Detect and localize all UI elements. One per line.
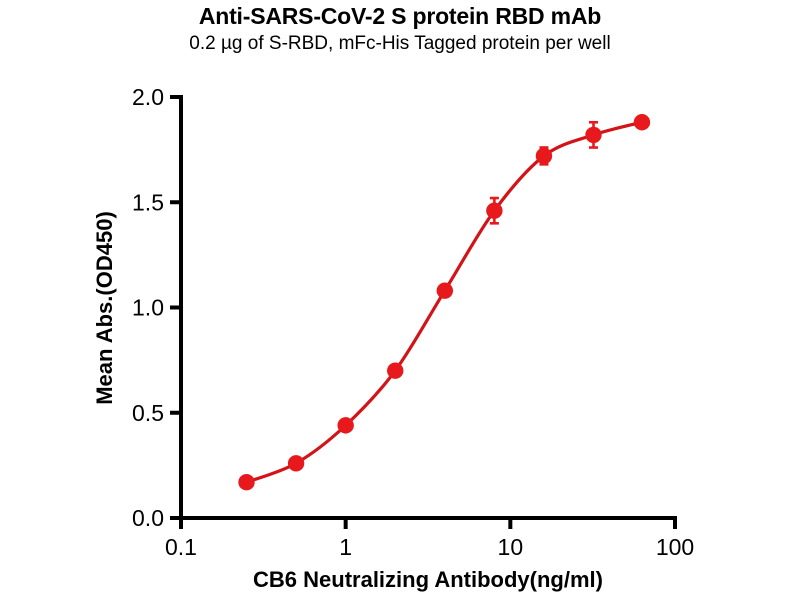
data-point: [486, 202, 502, 218]
y-tick-label: 1.5: [132, 189, 164, 215]
data-point: [288, 455, 304, 471]
y-tick-label: 0.0: [132, 505, 164, 531]
x-axis-title: CB6 Neutralizing Antibody(ng/ml): [253, 567, 603, 592]
chart-plot-area: 0.00.51.01.52.0 0.1110100 CB6 Neutralizi…: [0, 0, 800, 600]
figure-canvas: Anti-SARS-CoV-2 S protein RBD mAb 0.2 µg…: [0, 0, 800, 600]
data-point: [585, 127, 601, 143]
y-axis-tick-labels: 0.00.51.01.52.0: [132, 84, 164, 531]
data-point: [337, 417, 353, 433]
x-tick-label: 0.1: [165, 534, 197, 560]
x-tick-label: 1: [339, 534, 352, 560]
y-tick-label: 1.0: [132, 295, 164, 321]
data-point: [387, 362, 403, 378]
x-tick-label: 10: [498, 534, 524, 560]
data-point: [536, 148, 552, 164]
data-point: [634, 114, 650, 130]
y-tick-label: 0.5: [132, 400, 164, 426]
axis-tick-marks: [170, 97, 675, 529]
y-tick-label: 2.0: [132, 84, 164, 110]
y-axis-title: Mean Abs.(OD450): [92, 211, 117, 405]
data-point-markers: [238, 114, 650, 490]
x-axis-tick-labels: 0.1110100: [165, 534, 694, 560]
fit-curve: [247, 122, 642, 482]
data-point: [437, 282, 453, 298]
x-tick-label: 100: [656, 534, 694, 560]
data-point: [238, 474, 254, 490]
axis-frame: [181, 97, 675, 518]
